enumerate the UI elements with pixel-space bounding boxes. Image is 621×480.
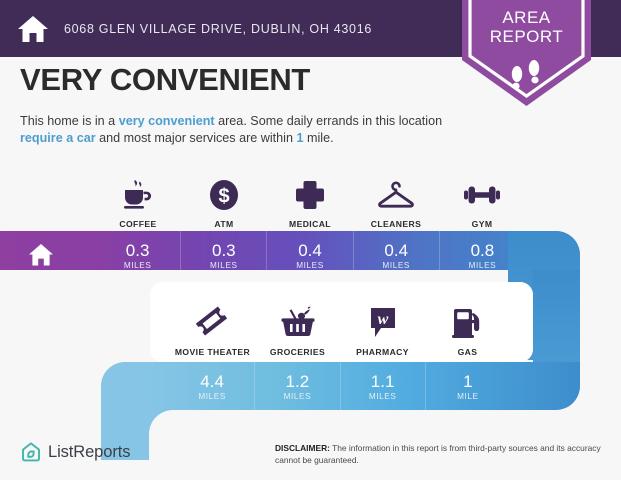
- category-gas[interactable]: GAS: [425, 295, 510, 357]
- distance-cell: 0.3 MILES: [180, 231, 266, 280]
- category-medical[interactable]: MEDICAL: [267, 167, 353, 229]
- distance-value: 0.4: [384, 242, 408, 259]
- distance-value: 1.1: [371, 373, 395, 390]
- distance-unit: MILES: [210, 261, 238, 270]
- category-label: GAS: [458, 347, 478, 357]
- category-label: GYM: [472, 219, 493, 229]
- category-label: GROCERIES: [270, 347, 325, 357]
- dumbbell-icon: [463, 175, 501, 215]
- distance-cell: 0.8 MILES: [439, 231, 525, 280]
- distance-unit: MILES: [296, 261, 324, 270]
- svg-text:$: $: [218, 186, 229, 208]
- movie-ticket-icon: [195, 303, 231, 343]
- listreports-house-icon: [20, 441, 42, 463]
- intro-text-2: area. Some daily errands in this locatio…: [215, 114, 443, 128]
- svg-text:w: w: [377, 311, 388, 328]
- clothes-hanger-icon: [377, 175, 415, 215]
- category-atm[interactable]: $ ATM: [181, 167, 267, 229]
- row1-values: 0.3 MILES 0.3 MILES 0.4 MILES 0.4 MILES …: [95, 231, 525, 280]
- area-report-page: 6068 GLEN VILLAGE DRIVE, DUBLIN, OH 4301…: [0, 0, 621, 480]
- distance-unit: MILES: [369, 392, 397, 401]
- row1-icons: COFFEE $ ATM MEDICAL: [95, 167, 525, 229]
- row2-values: 4.4 MILES 1.2 MILES 1.1 MILES 1 MILE: [170, 362, 510, 411]
- category-label: COFFEE: [119, 219, 156, 229]
- highlight-very-convenient: very convenient: [119, 114, 215, 128]
- intro-text-1: This home is in a: [20, 114, 119, 128]
- distance-cell: 1.2 MILES: [254, 362, 339, 411]
- badge-line-1: AREA: [462, 8, 591, 27]
- category-label: ATM: [214, 219, 233, 229]
- distance-value: 0.3: [126, 242, 150, 259]
- highlight-require-a-car: require a car: [20, 131, 96, 145]
- row2-icons: MOVIE THEATER: [170, 295, 510, 357]
- property-address: 6068 GLEN VILLAGE DRIVE, DUBLIN, OH 4301…: [64, 22, 372, 36]
- category-label: CLEANERS: [371, 219, 421, 229]
- category-cleaners[interactable]: CLEANERS: [353, 167, 439, 229]
- category-coffee[interactable]: COFFEE: [95, 167, 181, 229]
- distance-unit: MILE: [457, 392, 479, 401]
- dollar-coin-icon: $: [208, 175, 240, 215]
- distance-unit: MILES: [382, 261, 410, 270]
- distance-cell: 0.4 MILES: [353, 231, 439, 280]
- distance-value: 0.8: [471, 242, 495, 259]
- category-label: PHARMACY: [356, 347, 409, 357]
- area-report-badge: AREA REPORT: [462, 0, 591, 106]
- distance-unit: MILES: [469, 261, 497, 270]
- distance-cell: 1 MILE: [425, 362, 510, 411]
- summary-paragraph: This home is in a very convenient area. …: [20, 113, 450, 146]
- grocery-basket-icon: [280, 303, 316, 343]
- distance-value: 1.2: [286, 373, 310, 390]
- home-icon: [28, 243, 54, 267]
- gas-pump-icon: [451, 303, 485, 343]
- distance-cell: 1.1 MILES: [340, 362, 425, 411]
- category-label: MEDICAL: [289, 219, 331, 229]
- listreports-logo[interactable]: ListReports: [20, 441, 130, 463]
- distance-value: 1: [463, 373, 472, 390]
- category-label: MOVIE THEATER: [175, 347, 250, 357]
- category-gym[interactable]: GYM: [439, 167, 525, 229]
- distance-cell: 4.4 MILES: [170, 362, 254, 411]
- badge-line-2: REPORT: [462, 27, 591, 46]
- distance-unit: MILES: [284, 392, 312, 401]
- highlight-miles: 1: [296, 131, 303, 145]
- distance-value: 0.3: [212, 242, 236, 259]
- distance-cell: 0.4 MILES: [266, 231, 352, 280]
- disclaimer-label: DISCLAIMER:: [275, 443, 330, 453]
- badge-text: AREA REPORT: [462, 8, 591, 46]
- page-title: VERY CONVENIENT: [20, 62, 310, 98]
- home-icon: [16, 14, 50, 44]
- category-groceries[interactable]: GROCERIES: [255, 295, 340, 357]
- intro-text-4: mile.: [304, 131, 334, 145]
- category-movie-theater[interactable]: MOVIE THEATER: [170, 295, 255, 357]
- distance-value: 4.4: [200, 373, 224, 390]
- distance-unit: MILES: [124, 261, 152, 270]
- listreports-logo-text: ListReports: [48, 443, 130, 462]
- distance-value: 0.4: [298, 242, 322, 259]
- coffee-cup-icon: [121, 175, 155, 215]
- intro-text-3: and most major services are within: [96, 131, 297, 145]
- disclaimer: DISCLAIMER: The information in this repo…: [275, 443, 605, 466]
- pharmacy-w-icon: w: [367, 303, 399, 343]
- medical-cross-icon: [294, 175, 326, 215]
- distance-unit: MILES: [198, 392, 226, 401]
- distance-cell: 0.3 MILES: [95, 231, 180, 280]
- category-pharmacy[interactable]: w PHARMACY: [340, 295, 425, 357]
